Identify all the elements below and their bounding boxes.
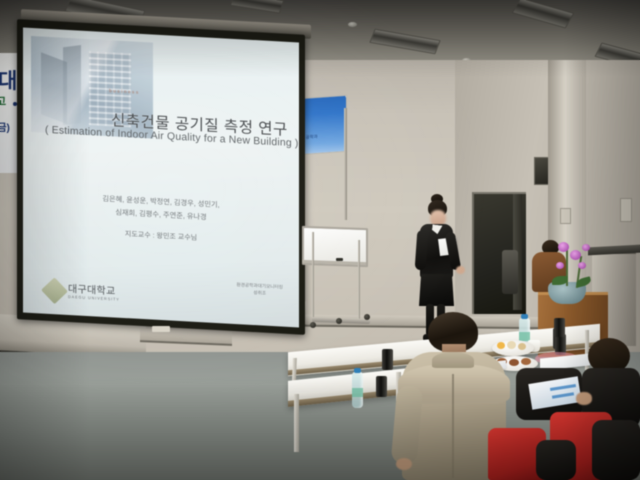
university-logo: 대구대학교 DAEGU UNIVERSITY: [45, 281, 120, 304]
slide-advisor: 지도교수 : 왕민조 교수님: [23, 224, 299, 249]
left-banner-line3: (금): [0, 119, 10, 134]
wall-plate: [560, 208, 571, 224]
whiteboard-leg: [358, 240, 360, 320]
logo-text-block: 대구대학교 DAEGU UNIVERSITY: [68, 284, 120, 301]
whiteboard-marker-icon[interactable]: [336, 258, 343, 261]
man-collar: [432, 352, 474, 368]
left-banner-line1: 대: [0, 65, 17, 95]
whiteboard-wheel-icon: [364, 314, 370, 320]
man-jacket-seam: [452, 374, 454, 478]
food-item: [518, 343, 526, 350]
slide-department: 환경공학과대기모니터링 성취조: [237, 281, 284, 298]
presentation-slide: business 신축건물 공기질 측정 연구 ( Estimation of …: [23, 28, 299, 328]
orchid-flower-icon: [558, 242, 569, 252]
table-leg: [294, 394, 299, 452]
photo-scene: 대 고 (금) 발표회 표회 구대학교 환경공학과 business 신축건물 …: [0, 0, 640, 480]
bottle-cap-icon: [354, 368, 361, 373]
food-item: [507, 341, 516, 349]
bottle-label: [352, 388, 363, 397]
food-item: [521, 358, 531, 365]
orchid-flower-icon: [570, 250, 581, 260]
left-banner-line2: 고: [0, 93, 6, 109]
bottle-cap-icon: [521, 314, 528, 319]
whiteboard-wheel-icon: [336, 318, 342, 324]
food-item: [509, 359, 519, 366]
man-hand: [396, 458, 412, 470]
beverage-can[interactable]: [554, 318, 565, 337]
orchid-flower-icon: [578, 262, 586, 269]
screen-pull-tab[interactable]: [152, 326, 170, 332]
slide-authors: 김은혜, 윤성운, 박정연, 김경우, 성민기, 심재희, 김평수, 주연준, …: [23, 188, 299, 229]
projection-screen: business 신축건물 공기질 측정 연구 ( Estimation of …: [17, 27, 305, 327]
logo-diamond-icon: [41, 277, 68, 304]
beverage-can[interactable]: [382, 349, 393, 370]
audience-person-body: [592, 420, 640, 480]
banner-pole: [344, 108, 347, 220]
orchid-flower-icon: [582, 244, 590, 251]
orchid-flower-icon: [556, 262, 564, 269]
wall-plate: [620, 198, 632, 222]
ceiling-spot-icon: [348, 22, 357, 27]
screen-surface: business 신축건물 공기질 측정 연구 ( Estimation of …: [23, 28, 299, 328]
beverage-can[interactable]: [376, 376, 387, 397]
audience-person-body: [536, 440, 576, 480]
folding-chair: [502, 250, 518, 294]
presenter-skirt: [419, 274, 454, 306]
audience-hand: [576, 392, 592, 405]
whiteboard-wheel-icon: [310, 322, 316, 328]
whiteboard-leg: [312, 232, 314, 320]
artwork-building-shape: [63, 45, 81, 125]
wall-speaker-icon: [534, 157, 549, 185]
presenter-hand: [456, 266, 465, 274]
